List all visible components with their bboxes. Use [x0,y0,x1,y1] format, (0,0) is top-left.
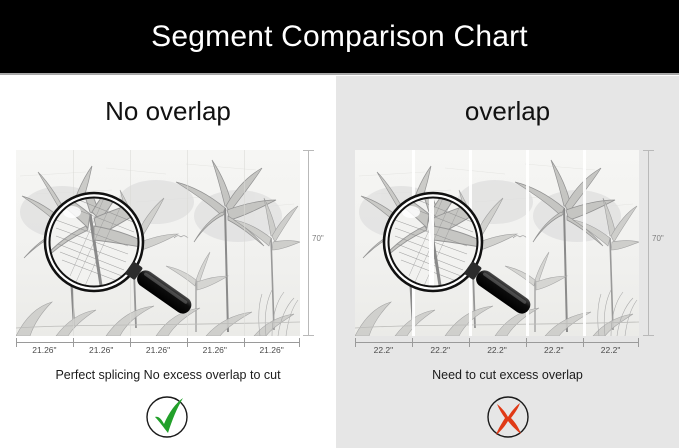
width-label: 22.2" [412,345,469,355]
width-label: 21.26" [243,345,300,355]
seam-line-left-3 [187,150,188,336]
height-dimension-tick-bottom [643,335,654,336]
height-dimension-line [648,150,649,336]
width-dimension-labels: 21.26" 21.26" 21.26" 21.26" 21.26" [16,345,300,355]
width-label: 22.2" [525,345,582,355]
seam-line-right-4 [583,150,586,336]
panels-container: No overlap [0,76,679,448]
botanical-mural-artwork-left [16,150,300,336]
mural-figure-no-overlap [16,150,300,336]
width-label: 21.26" [73,345,130,355]
caption-no-overlap: Perfect splicing No excess overlap to cu… [0,368,336,382]
height-dimension-tick-top [643,150,654,151]
seam-line-left-4 [244,150,245,336]
green-check-icon [144,392,192,440]
comparison-chart-page: Segment Comparison Chart No overlap [0,0,679,448]
width-label: 21.26" [186,345,243,355]
seam-line-right-2 [469,150,472,336]
panel-heading-no-overlap: No overlap [0,96,336,127]
page-title: Segment Comparison Chart [151,20,528,54]
height-dimension-tick-top [303,150,314,151]
red-cross-icon [484,392,532,440]
verdict-no-overlap [0,392,336,440]
title-bar-underline [0,73,679,75]
width-dimension-overlap: 22.2" 22.2" 22.2" 22.2" 22.2" [355,338,639,362]
mural-image-no-overlap [16,150,300,336]
panel-overlap: overlap [336,76,679,448]
width-dimension-no-overlap: 21.26" 21.26" 21.26" 21.26" 21.26" [16,338,300,362]
seam-line-left-1 [73,150,74,336]
height-dimension-no-overlap: 70" [302,150,328,336]
width-label: 22.2" [582,345,639,355]
seam-line-right-3 [526,150,529,336]
panel-no-overlap: No overlap [0,76,336,448]
botanical-mural-artwork-right [355,150,639,336]
mural-figure-overlap [355,150,639,336]
verdict-overlap [336,392,679,440]
seam-line-left-2 [130,150,131,336]
width-label: 21.26" [16,345,73,355]
caption-overlap: Need to cut excess overlap [336,368,679,382]
height-dimension-label: 70" [652,234,664,243]
width-dimension-labels: 22.2" 22.2" 22.2" 22.2" 22.2" [355,345,639,355]
height-dimension-overlap: 70" [642,150,668,336]
mural-image-overlap [355,150,639,336]
height-dimension-label: 70" [312,234,324,243]
title-bar: Segment Comparison Chart [0,0,679,73]
width-label: 22.2" [469,345,526,355]
width-label: 21.26" [130,345,187,355]
height-dimension-tick-bottom [303,335,314,336]
panel-heading-overlap: overlap [336,96,679,127]
height-dimension-line [308,150,309,336]
seam-line-right-1 [412,150,415,336]
width-label: 22.2" [355,345,412,355]
